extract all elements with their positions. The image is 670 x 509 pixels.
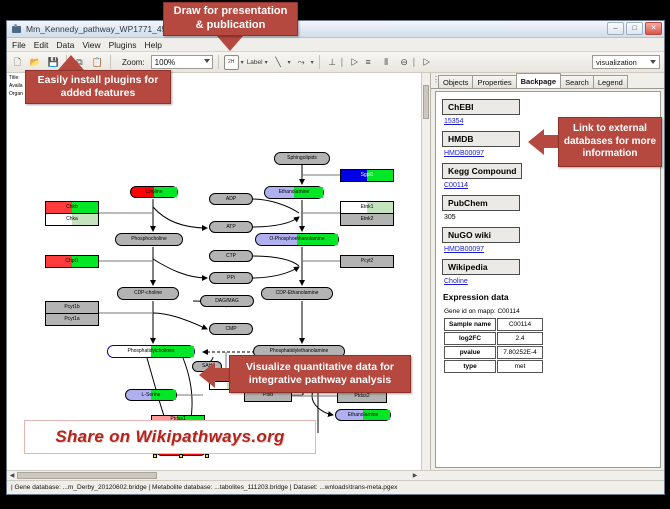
db-link-kegg-compound[interactable]: C00114 <box>444 182 654 189</box>
app-icon <box>11 24 22 35</box>
node-label: Pcyt2 <box>361 259 374 264</box>
menu-item-file[interactable]: File <box>12 40 26 50</box>
callout-draw-text: Draw for presentation & publication <box>169 5 292 33</box>
maximize-button[interactable]: □ <box>626 22 643 35</box>
scroll-right-arrow[interactable]: ▶ <box>410 471 420 480</box>
db-row-pubchem: PubChem 305 <box>442 193 654 221</box>
node-label: Phosphocholine <box>131 237 167 242</box>
node-ethanolamine-right[interactable]: Ethanolamine <box>335 409 391 421</box>
cell-key-pvalue: pvalue <box>444 346 496 359</box>
node-ctp[interactable]: CTP <box>209 250 253 262</box>
anchor-dropdown-icon[interactable]: ▾ <box>311 59 314 66</box>
visualization-combobox[interactable]: visualization <box>592 55 660 69</box>
db-row-nugo: NuGO wiki HMDB00097 <box>442 225 654 253</box>
chevron-down-icon <box>650 60 656 64</box>
scrollbar-thumb[interactable] <box>423 85 429 119</box>
anchor-tool[interactable]: ⤳ <box>294 55 309 70</box>
cell-value-type: met <box>497 360 543 373</box>
scrollbar-thumb[interactable] <box>17 472 157 479</box>
callout-draw: Draw for presentation & publication <box>163 2 298 36</box>
menu-item-edit[interactable]: Edit <box>34 40 49 50</box>
db-header-chebi: ChEBI <box>442 99 520 115</box>
callout-plugins-text: Easily install plugins for added feature… <box>31 74 165 100</box>
selection-handle-s[interactable] <box>179 454 183 458</box>
node-label: ADP <box>226 197 236 202</box>
node-l-serine-left[interactable]: L-Serine <box>125 389 177 401</box>
node-label: Choline <box>146 190 163 195</box>
cell-value-sample-name: C00114 <box>497 318 543 331</box>
node-label: O-Phosphoethanolamine <box>269 237 324 242</box>
distribute-vertical-button[interactable]: ≡ <box>361 55 376 70</box>
node-cmp[interactable]: CMP <box>209 323 253 335</box>
label-tool[interactable]: Label <box>247 59 263 66</box>
callout-links: Link to external databases for more info… <box>558 117 662 167</box>
db-header-wikipedia: Wikipedia <box>442 259 520 275</box>
label-dropdown-icon[interactable]: ▾ <box>265 59 268 66</box>
node-etnk1-etnk2[interactable]: Etnk1 Etnk2 <box>340 201 394 226</box>
title-bar: Mm_Kennedy_pathway_WP1771_45176.gpml – □… <box>7 21 664 38</box>
node-label: Pisd <box>263 393 273 398</box>
expression-data-title: Expression data <box>443 292 654 302</box>
db-link-wikipedia[interactable]: Choline <box>444 278 654 285</box>
menu-item-plugins[interactable]: Plugins <box>109 40 137 50</box>
gene-id-on-mapp: Gene id on mapp: C00114 <box>444 308 654 315</box>
toolbar-separator-4 <box>319 55 320 69</box>
node-ppi[interactable]: PPi <box>209 272 253 284</box>
stack-button[interactable]: ⊖ <box>397 55 412 70</box>
node-label: Chkb <box>66 205 78 210</box>
table-row: Sample name C00114 <box>444 318 543 331</box>
selection-handle-sw[interactable] <box>153 454 157 458</box>
zoom-value: 100% <box>155 58 175 67</box>
node-pcyt2[interactable]: Pcyt2 <box>340 255 394 268</box>
cell-key-sample-name: Sample name <box>444 318 496 331</box>
node-label: L-Serine <box>142 393 161 398</box>
node-adp[interactable]: ADP <box>209 193 253 205</box>
node-label: Chpt1 <box>65 259 78 264</box>
toolbar-separator-2 <box>110 55 111 69</box>
node-label: Etnk1 <box>361 205 374 210</box>
node-sphingolipids[interactable]: Sphingolipids <box>274 152 330 165</box>
share-banner-text: Share on Wikipathways.org <box>55 427 284 447</box>
node-label: Ethanolamine <box>279 190 310 195</box>
callout-visualize-text: Visualize quantitative data for integrat… <box>235 361 405 387</box>
node-choline-top[interactable]: Choline <box>130 186 178 198</box>
node-label: PPi <box>227 276 235 281</box>
new-file-button[interactable]: 🗋 <box>10 55 25 70</box>
node-label: Etnk2 <box>361 217 374 222</box>
canvas-vertical-scrollbar[interactable] <box>421 73 430 470</box>
node-etnk2[interactable]: Etnk2 <box>340 213 394 226</box>
tab-search[interactable]: Search <box>560 75 594 88</box>
group-button[interactable]: ⎸▷ <box>415 55 430 70</box>
db-header-pubchem: PubChem <box>442 195 520 211</box>
share-banner: Share on Wikipathways.org <box>24 420 316 454</box>
toolbar-separator-3 <box>218 55 219 69</box>
node-chkb-chka[interactable]: Chkb Chka <box>45 201 99 226</box>
callout-links-text: Link to external databases for more info… <box>563 123 657 161</box>
tab-legend[interactable]: Legend <box>593 75 628 88</box>
status-text: | Gene database: ...m_Derby_20120602.bri… <box>11 484 397 491</box>
datanode-tool[interactable]: 2H <box>224 55 239 70</box>
minimize-button[interactable]: – <box>607 22 624 35</box>
tab-properties[interactable]: Properties <box>472 75 516 88</box>
db-header-nugo-wiki: NuGO wiki <box>442 227 520 243</box>
node-pcyt1b-pcyt1a[interactable]: Pcyt1b Pcyt1a <box>45 301 99 326</box>
callout-draw-arrow-icon <box>217 36 243 51</box>
node-phosphatidylcholines[interactable]: Phosphatidylcholines <box>107 345 195 358</box>
menu-item-data[interactable]: Data <box>56 40 74 50</box>
db-value-pubchem: 305 <box>444 214 654 221</box>
db-header-hmdb: HMDB <box>442 131 520 147</box>
node-chka[interactable]: Chka <box>45 213 99 226</box>
node-label: Sphingolipids <box>287 156 317 161</box>
cell-key-type: type <box>444 360 496 373</box>
menu-bar: File Edit Data View Plugins Help <box>7 38 664 52</box>
zoom-combobox[interactable]: 100% <box>151 55 213 69</box>
node-label: DAG/MAG <box>215 299 239 304</box>
node-cdp-ethanolamine[interactable]: CDP-Ethanolamine <box>261 287 333 300</box>
callout-plugins: Easily install plugins for added feature… <box>25 70 171 104</box>
node-label: Chka <box>66 217 78 222</box>
cell-value-log2fc: 2.4 <box>497 332 543 345</box>
datanode-dropdown-icon[interactable]: ▾ <box>241 59 244 66</box>
paste-button[interactable]: 📋 <box>90 55 105 70</box>
node-label: CTP <box>226 254 236 259</box>
db-header-kegg-compound: Kegg Compound <box>442 163 522 179</box>
distribute-horizontal-button[interactable]: ⦀ <box>379 55 394 70</box>
node-pcyt1a[interactable]: Pcyt1a <box>45 313 99 326</box>
cell-value-pvalue: 7.80252E-4 <box>497 346 543 359</box>
scroll-left-arrow[interactable]: ◀ <box>7 471 17 480</box>
db-row-wikipedia: Wikipedia Choline <box>442 257 654 285</box>
screenshot-root: Mm_Kennedy_pathway_WP1771_45176.gpml – □… <box>0 0 670 509</box>
node-label: ATP <box>226 225 235 230</box>
node-cdp-choline[interactable]: CDP-choline <box>117 287 179 300</box>
node-phosphocholine[interactable]: Phosphocholine <box>115 233 183 246</box>
tab-objects[interactable]: Objects <box>438 75 473 88</box>
node-dag-mag[interactable]: DAG/MAG <box>200 295 254 307</box>
status-bar: | Gene database: ...m_Derby_20120602.bri… <box>7 480 664 494</box>
expression-data-table: Sample name C00114 log2FC 2.4 pvalue 7.8… <box>443 317 544 374</box>
zoom-label: Zoom: <box>122 58 145 67</box>
close-button[interactable]: ✕ <box>645 22 662 35</box>
node-label: Phosphatidylethanolamine <box>270 349 329 354</box>
visualization-value: visualization <box>596 58 637 67</box>
table-row: type met <box>444 360 543 373</box>
side-pane-tabs: Objects Properties Backpage Search Legen… <box>431 73 664 89</box>
node-label: CDP-Ethanolamine <box>276 291 319 296</box>
node-ethanolamine[interactable]: Ethanolamine <box>264 186 324 199</box>
selection-handle-se[interactable] <box>205 454 209 458</box>
menu-item-help[interactable]: Help <box>145 40 162 50</box>
open-file-button[interactable]: 📂 <box>28 55 43 70</box>
node-chpt1[interactable]: Chpt1 <box>45 255 99 268</box>
line-tool[interactable]: ╲ <box>271 55 286 70</box>
menu-item-view[interactable]: View <box>82 40 100 50</box>
table-row: log2FC 2.4 <box>444 332 543 345</box>
canvas-horizontal-scrollbar[interactable]: ◀ ▶ <box>7 470 664 480</box>
align-left-button[interactable]: ⎸▷ <box>343 55 358 70</box>
cell-key-log2fc: log2FC <box>444 332 496 345</box>
tab-backpage[interactable]: Backpage <box>516 73 561 88</box>
node-atp[interactable]: ATP <box>209 221 253 233</box>
line-dropdown-icon[interactable]: ▾ <box>288 59 291 66</box>
db-link-nugo-wiki[interactable]: HMDB00097 <box>444 246 654 253</box>
node-sgpl1[interactable]: Sgpl1 <box>340 169 394 182</box>
pathway-canvas[interactable]: Title: Availa Organ <box>7 73 431 470</box>
chevron-down-icon <box>204 59 210 63</box>
node-o-phosphoethanolamine[interactable]: O-Phosphoethanolamine <box>255 233 339 246</box>
node-label: Ptdss2 <box>354 394 369 399</box>
node-label: CMP <box>225 327 236 332</box>
table-row: pvalue 7.80252E-4 <box>444 346 543 359</box>
node-label: Phosphatidylcholines <box>128 349 175 354</box>
node-label: Sgpl1 <box>361 173 374 178</box>
callout-visualize: Visualize quantitative data for integrat… <box>229 355 411 393</box>
node-label: CDP-choline <box>134 291 162 296</box>
window-controls: – □ ✕ <box>607 22 662 35</box>
node-label: Pcyt1a <box>64 317 79 322</box>
node-label: Pcyt1b <box>64 305 79 310</box>
node-label: Ethanolamine <box>348 413 379 418</box>
align-top-button[interactable]: ⊥ <box>325 55 340 70</box>
